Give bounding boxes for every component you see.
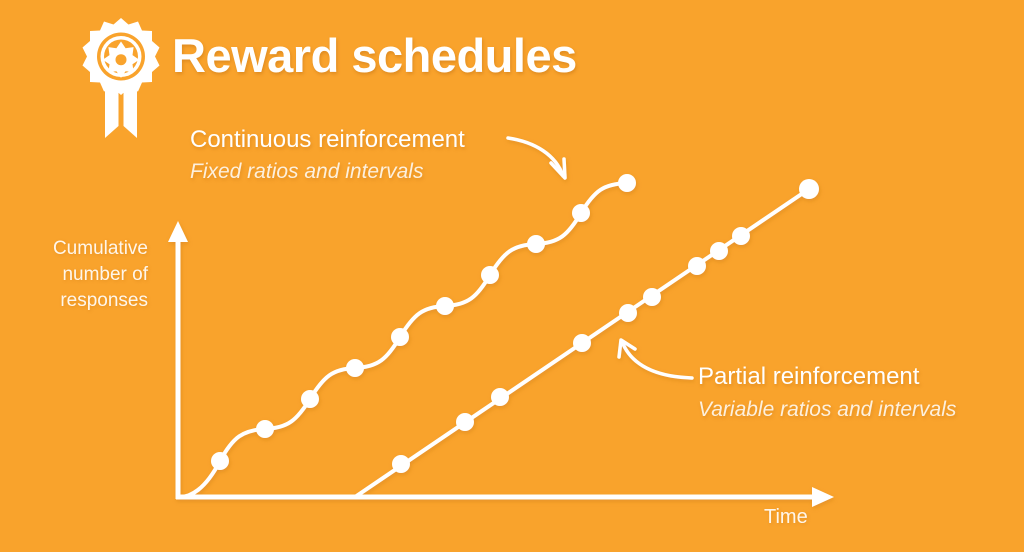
data-point (573, 334, 591, 352)
data-point (392, 455, 410, 473)
infographic-canvas: Reward schedules Continuous reinforcemen… (0, 0, 1024, 552)
reward-schedule-chart (0, 0, 1024, 552)
data-point (346, 359, 364, 377)
data-point (688, 257, 706, 275)
data-point (732, 227, 750, 245)
data-point (456, 413, 474, 431)
data-point (481, 266, 499, 284)
x-axis (176, 487, 834, 507)
data-point (391, 328, 409, 346)
data-point (643, 288, 661, 306)
data-point (301, 390, 319, 408)
data-point (710, 242, 728, 260)
continuous-reinforcement-points (211, 174, 636, 470)
data-point (618, 174, 636, 192)
data-point (619, 304, 637, 322)
partial-reinforcement-arrow (619, 340, 692, 378)
data-point (572, 204, 590, 222)
y-axis (168, 221, 188, 499)
data-point (491, 388, 509, 406)
data-point (799, 179, 819, 199)
data-point (256, 420, 274, 438)
data-point (527, 235, 545, 253)
data-point (436, 297, 454, 315)
continuous-reinforcement-arrow (508, 138, 565, 178)
data-point (211, 452, 229, 470)
